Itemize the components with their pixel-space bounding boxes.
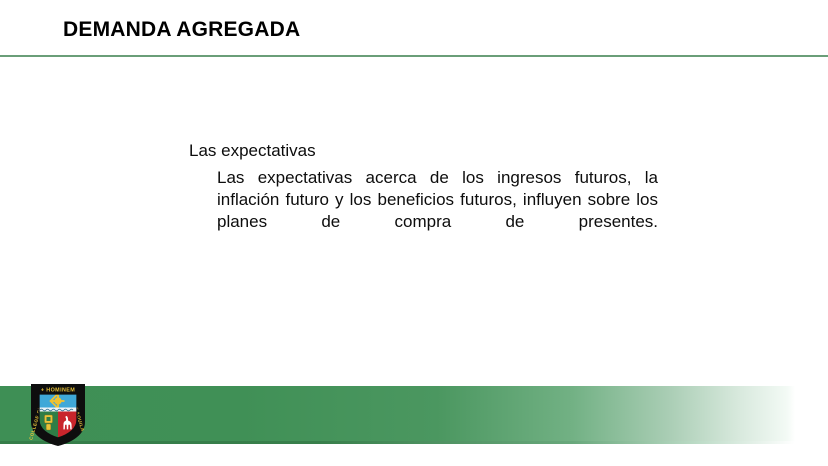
slide: DEMANDA AGREGADA Las expectativas Las ex… [0, 0, 828, 466]
university-crest-logo: + HOMINEM COLLEGE CUZCO ET AQUILA [29, 382, 87, 448]
svg-text:+ HOMINEM: + HOMINEM [41, 388, 75, 394]
body-paragraph: Las expectativas acerca de los ingresos … [217, 167, 658, 255]
lead-line: Las expectativas [189, 141, 316, 161]
footer-band-edge [0, 441, 795, 444]
slide-header: DEMANDA AGREGADA [0, 0, 828, 57]
page-title: DEMANDA AGREGADA [63, 18, 300, 42]
footer-band [0, 386, 795, 444]
crest-icon: + HOMINEM COLLEGE CUZCO ET AQUILA [29, 382, 87, 448]
slide-body: Las expectativas Las expectativas acerca… [0, 57, 828, 386]
